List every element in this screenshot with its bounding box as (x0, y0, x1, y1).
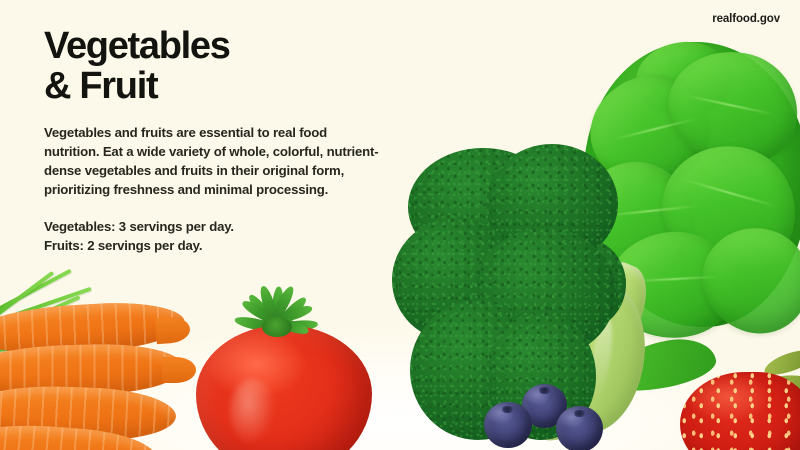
broccoli-floret (486, 312, 596, 440)
lettuce-illustration (584, 42, 800, 342)
strawberry-leaf (761, 346, 800, 379)
carrot-stem (0, 427, 59, 447)
lettuce-head (584, 42, 800, 327)
tomato-calyx-core (262, 317, 292, 337)
tomato-calyx-leaf (240, 298, 280, 328)
tomato-calyx-leaf (246, 292, 283, 335)
lettuce-leaf (604, 227, 741, 344)
carrot (0, 342, 185, 398)
carrot-stem (0, 385, 84, 391)
lettuce-vein (682, 178, 779, 207)
broccoli-illustration (390, 142, 640, 450)
broccoli-stalk (570, 255, 658, 365)
hero-text-block: Vegetables & Fruit Vegetables and fruits… (44, 26, 424, 255)
carrot-stem (0, 435, 74, 450)
tomato-calyx-leaf (267, 284, 296, 326)
carrot (0, 420, 157, 450)
tomato-body (196, 325, 372, 450)
carrot-stem (0, 393, 103, 427)
carrot-stem (0, 377, 101, 400)
strawberry-background-leaf (603, 333, 719, 397)
carrot (0, 298, 186, 358)
lettuce-leaf (649, 132, 800, 287)
lettuce-leaf (568, 154, 701, 287)
blueberries-illustration (478, 382, 613, 450)
carrots-illustration (0, 281, 210, 450)
broccoli-floret (410, 300, 546, 440)
strawberry-seeds (680, 372, 800, 450)
carrot-stem (0, 325, 80, 359)
lettuce-leaf (687, 213, 800, 348)
carrot-stem (0, 353, 89, 373)
blueberry-crown (538, 387, 551, 394)
ground-haze (0, 310, 800, 450)
carrot-stem (0, 312, 106, 341)
carrot-stem (0, 407, 68, 421)
tomato-calyx-leaf (234, 314, 281, 334)
blueberry (556, 406, 603, 450)
tomato-calyx-leaf (270, 286, 284, 333)
site-brand[interactable]: realfood.gov (712, 13, 780, 25)
carrot (0, 383, 177, 442)
hero-body-text: Vegetables and fruits are essential to r… (44, 123, 382, 199)
carrot-stem (0, 295, 81, 347)
lettuce-vein (685, 94, 775, 115)
broccoli-floret (486, 144, 618, 264)
carrot-stem (0, 363, 108, 374)
strawberry-leaf (767, 387, 800, 420)
lettuce-vein (613, 118, 697, 141)
broccoli-floret (408, 148, 558, 266)
broccoli-floret (474, 228, 616, 358)
tomato-calyx-leaf (258, 285, 281, 326)
tomato-calyx-leaf (268, 314, 309, 337)
broccoli-stalk-crease (585, 317, 616, 403)
poster-canvas: realfood.gov Vegetables & Fruit Vegetabl… (0, 0, 800, 450)
lettuce-leaf (659, 42, 800, 175)
carrot-stem (0, 269, 72, 325)
carrot-tip (155, 316, 191, 344)
carrot-stem (0, 340, 104, 353)
lettuce-leaf (634, 39, 735, 120)
carrot-stem (0, 271, 54, 337)
carrot-stem (0, 287, 92, 331)
strawberry-leaf (767, 374, 800, 394)
tomato-calyx-leaf (268, 303, 313, 327)
tomato-highlight (230, 379, 276, 445)
blueberry-crown (573, 410, 586, 417)
broccoli-stalk (529, 275, 655, 439)
broccoli-stalk (511, 317, 589, 444)
page-title: Vegetables & Fruit (44, 26, 424, 107)
lettuce-vein (630, 276, 720, 283)
carrot-tip (162, 357, 196, 383)
broccoli-floret (540, 238, 626, 330)
strawberry-illustration (672, 354, 800, 450)
servings-text: Vegetables: 3 servings per day. Fruits: … (44, 217, 424, 255)
blueberry-crown (501, 406, 514, 413)
tomato-calyx-leaf (269, 294, 309, 335)
carrot-greens (0, 281, 100, 450)
strawberry-body (680, 372, 800, 450)
lettuce-vein (602, 205, 698, 217)
lettuce-leaf (577, 62, 722, 199)
tomato-illustration (190, 293, 375, 450)
blueberry (522, 384, 567, 428)
tomato-calyx-leaf (271, 319, 318, 335)
blueberry (484, 402, 532, 448)
carrot-stem (0, 417, 80, 450)
broccoli-stalk-crease (548, 299, 585, 397)
tomato-calyx-leaf (270, 322, 316, 352)
